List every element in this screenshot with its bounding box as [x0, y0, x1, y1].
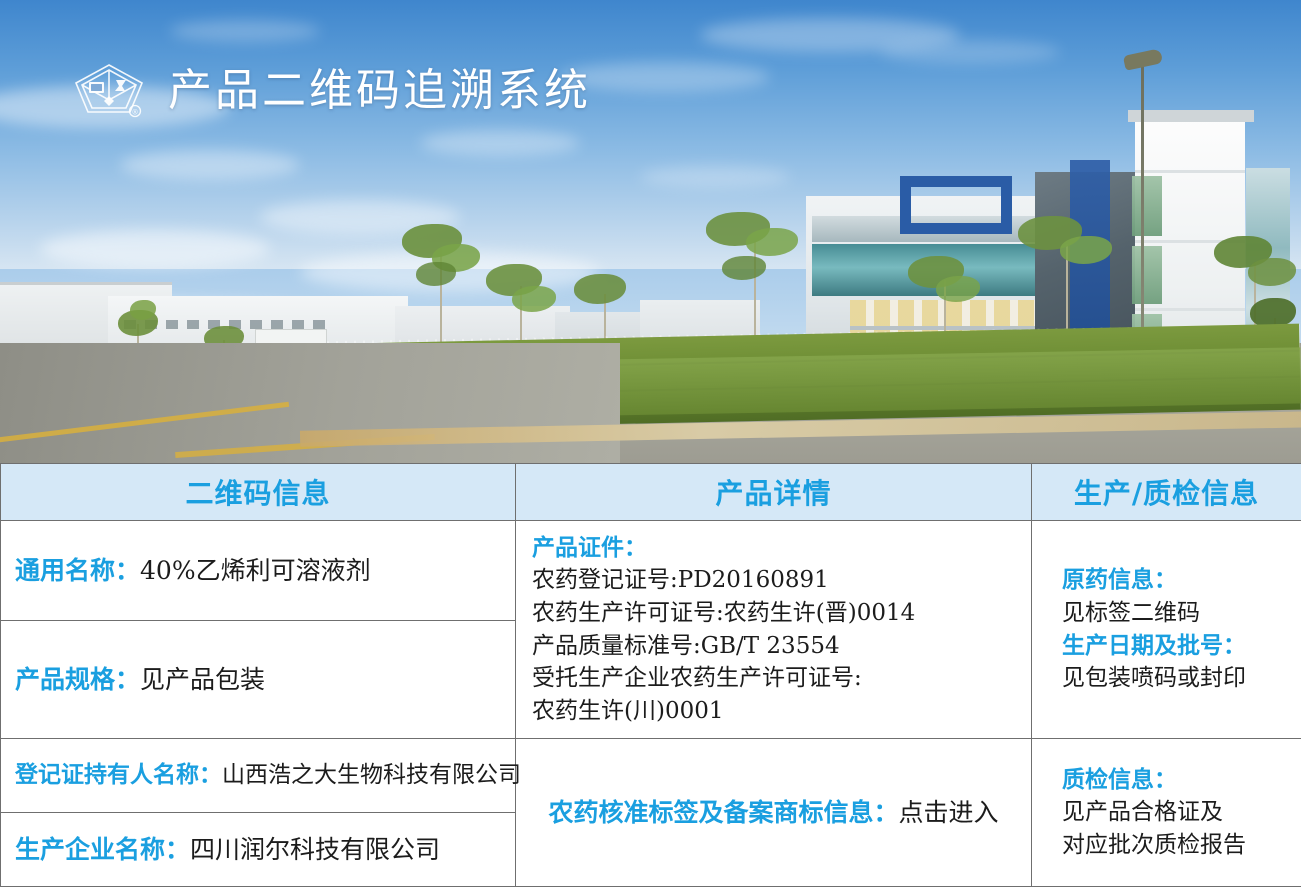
tower-glass-panel — [1132, 176, 1162, 236]
manufacturer-label: 生产企业名称： — [15, 835, 190, 864]
brand-header: ® 产品二维码追溯系统 — [72, 62, 591, 120]
cell-quality-inspection: 质检信息： 见产品合格证及 对应批次质检报告 — [1032, 739, 1301, 887]
system-title: 产品二维码追溯系统 — [168, 69, 591, 113]
certificate-line: 产品质量标准号:GB/T 23554 — [532, 630, 1015, 663]
traceability-page: ® 产品二维码追溯系统 二维码信息 产品详情 生产/质检信息 — [0, 0, 1301, 887]
column-header-product-label: 产品详情 — [715, 477, 831, 510]
certificates-title: 产品证件： — [532, 532, 1015, 565]
factory-hero-photo: ® 产品二维码追溯系统 — [0, 0, 1301, 463]
tower-glass-panel — [1132, 246, 1162, 304]
column-header-quality: 生产/质检信息 — [1032, 464, 1301, 521]
cell-product-spec: 产品规格：见产品包装 — [1, 621, 516, 739]
product-spec-label: 产品规格： — [15, 665, 140, 694]
registration-holder-label: 登记证持有人名称： — [15, 761, 222, 788]
cell-registration-holder: 登记证持有人名称：山西浩之大生物科技有限公司 — [1, 739, 516, 813]
cell-approved-label-link[interactable]: 农药核准标签及备案商标信息：点击进入 — [516, 739, 1032, 887]
certificate-line: 农药登记证号:PD20160891 — [532, 564, 1015, 597]
cell-general-name: 通用名称：40%乙烯利可溶液剂 — [1, 521, 516, 621]
quality-info-line: 见产品合格证及 — [1062, 796, 1291, 829]
cell-manufacturer: 生产企业名称：四川润尔科技有限公司 — [1, 813, 516, 887]
certificate-line: 受托生产企业农药生产许可证号: — [532, 662, 1015, 695]
registered-mark: ® — [132, 109, 139, 117]
building-blue-frame — [900, 176, 1012, 234]
column-header-qr-label: 二维码信息 — [185, 477, 330, 510]
approved-label-label: 农药核准标签及备案商标信息： — [548, 798, 898, 827]
general-name-value: 40%乙烯利可溶液剂 — [140, 556, 371, 585]
cell-product-certificates: 产品证件： 农药登记证号:PD20160891 农药生产许可证号:农药生许(晋)… — [516, 521, 1032, 739]
cell-raw-material-and-batch: 原药信息： 见标签二维码 生产日期及批号： 见包装喷码或封印 — [1032, 521, 1301, 739]
manufacturer-value: 四川润尔科技有限公司 — [190, 835, 440, 864]
certificate-line: 农药生产许可证号:农药生许(晋)0014 — [532, 597, 1015, 630]
raw-material-label: 原药信息： — [1062, 564, 1291, 597]
quality-info-line: 对应批次质检报告 — [1062, 829, 1291, 862]
product-info-table: 二维码信息 产品详情 生产/质检信息 通用名称：40%乙烯利可溶液剂 产品证件： — [0, 463, 1301, 887]
guoguang-logo-icon: ® — [72, 62, 146, 120]
tower-cap — [1128, 110, 1254, 122]
quality-info-label: 质检信息： — [1062, 764, 1291, 797]
column-header-quality-label: 生产/质检信息 — [1074, 477, 1259, 510]
column-header-product: 产品详情 — [516, 464, 1032, 521]
approved-label-link-text[interactable]: 点击进入 — [899, 798, 999, 827]
certificate-line: 农药生许(川)0001 — [532, 695, 1015, 728]
table-row: 通用名称：40%乙烯利可溶液剂 产品证件： 农药登记证号:PD20160891 … — [1, 521, 1301, 621]
general-name-label: 通用名称： — [15, 556, 140, 585]
product-spec-value: 见产品包装 — [140, 665, 265, 694]
table-row: 登记证持有人名称：山西浩之大生物科技有限公司 农药核准标签及备案商标信息：点击进… — [1, 739, 1301, 813]
raw-material-value: 见标签二维码 — [1062, 597, 1291, 630]
table-header-row: 二维码信息 产品详情 生产/质检信息 — [1, 464, 1301, 521]
registration-holder-value: 山西浩之大生物科技有限公司 — [222, 762, 521, 788]
production-date-label: 生产日期及批号： — [1062, 630, 1291, 663]
production-date-value: 见包装喷码或封印 — [1062, 662, 1291, 695]
column-header-qr: 二维码信息 — [1, 464, 516, 521]
